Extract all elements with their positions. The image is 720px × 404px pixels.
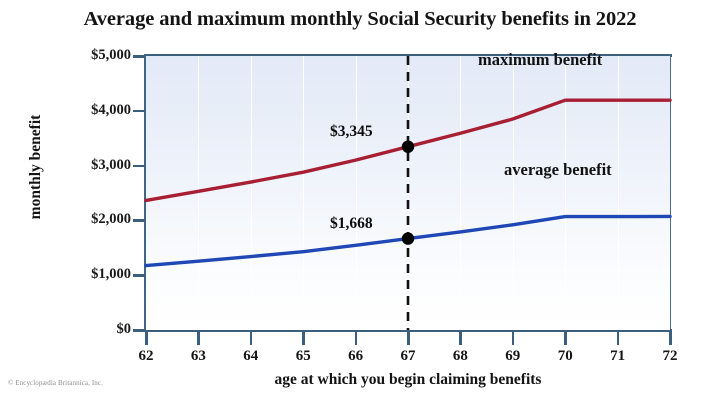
y-tick-label: $2,000 — [59, 211, 131, 228]
x-tick-mark-69 — [512, 332, 515, 345]
y-tick-label-wrap: $5,000 — [0, 47, 131, 65]
data-point-marker — [402, 232, 414, 244]
y-tick-label: $1,000 — [59, 266, 131, 283]
x-tick-mark-62 — [145, 332, 148, 345]
x-tick-mark-66 — [355, 332, 358, 345]
y-tick-label-wrap: $4,000 — [0, 102, 131, 120]
x-tick-label: 63 — [178, 348, 218, 365]
x-tick-label: 70 — [545, 348, 585, 365]
plot-area: $3,345$1,668maximum benefitaverage benef… — [146, 56, 670, 330]
y-tick-label: $5,000 — [59, 47, 131, 64]
series-label-average-benefit: average benefit — [504, 160, 612, 180]
chart-figure: Average and maximum monthly Social Secur… — [0, 0, 720, 404]
x-tick-mark-63 — [197, 332, 200, 345]
x-tick-label: 65 — [283, 348, 323, 365]
series-label-maximum-benefit: maximum benefit — [478, 50, 602, 70]
y-tick-label-wrap: $3,000 — [0, 157, 131, 175]
x-tick-label: 64 — [231, 348, 271, 365]
y-tick-label-wrap: $0 — [0, 321, 131, 339]
x-tick-label: 69 — [493, 348, 533, 365]
x-tick-mark-67 — [407, 332, 410, 345]
x-tick-label: 66 — [336, 348, 376, 365]
chart-title: Average and maximum monthly Social Secur… — [0, 8, 720, 31]
data-point-label: $3,345 — [330, 123, 373, 141]
annotation-markers — [146, 56, 670, 330]
x-axis-title: age at which you begin claiming benefits — [146, 371, 670, 389]
y-tick-label-wrap: $2,000 — [0, 211, 131, 229]
y-axis-title: monthly benefit — [27, 67, 45, 267]
x-tick-label: 67 — [388, 348, 428, 365]
x-tick-label: 71 — [598, 348, 638, 365]
x-tick-mark-68 — [459, 332, 462, 345]
y-tick-mark-4000 — [133, 110, 145, 113]
y-tick-label: $3,000 — [59, 157, 131, 174]
x-tick-mark-72 — [669, 332, 672, 345]
x-tick-mark-65 — [302, 332, 305, 345]
y-tick-label: $4,000 — [59, 102, 131, 119]
y-tick-mark-2000 — [133, 219, 145, 222]
x-tick-mark-64 — [250, 332, 253, 345]
y-tick-label-wrap: $1,000 — [0, 266, 131, 284]
x-tick-mark-70 — [564, 332, 567, 345]
x-tick-mark-71 — [617, 332, 620, 345]
x-tick-label: 72 — [650, 348, 690, 365]
y-tick-label: $0 — [59, 321, 131, 338]
y-tick-mark-3000 — [133, 165, 145, 168]
y-tick-mark-1000 — [133, 274, 145, 277]
data-point-label: $1,668 — [330, 215, 373, 233]
data-point-marker — [402, 140, 414, 152]
y-tick-mark-5000 — [133, 55, 145, 58]
x-tick-label: 62 — [126, 348, 166, 365]
y-tick-mark-0 — [133, 329, 145, 332]
copyright-credit: © Encyclopædia Britannica, Inc. — [8, 379, 103, 387]
x-tick-label: 68 — [440, 348, 480, 365]
